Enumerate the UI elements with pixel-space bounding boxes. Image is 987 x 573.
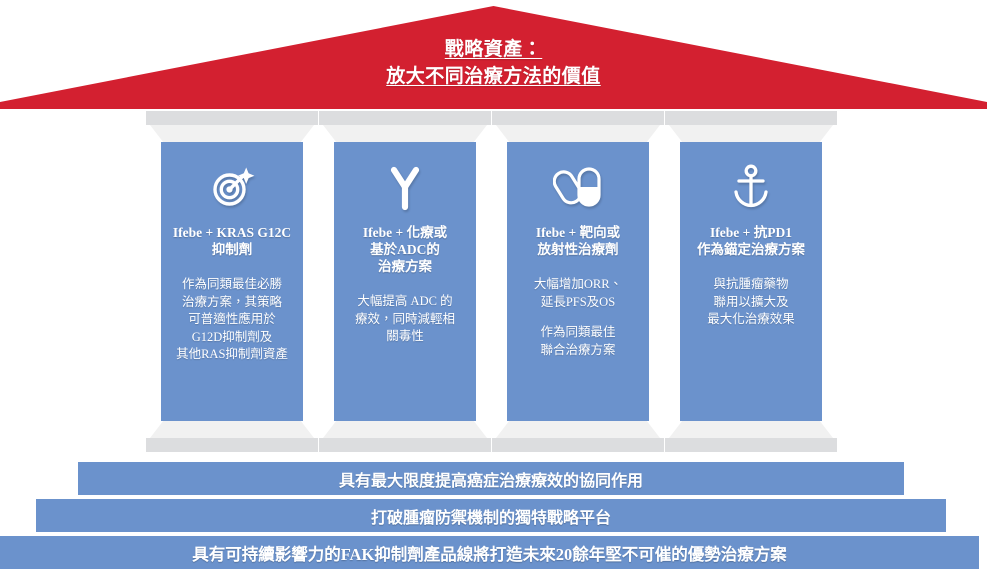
capsule-pills-icon	[511, 156, 645, 218]
pillar-heading-line: Ifebe + KRAS G12C	[173, 225, 291, 240]
pillar-heading-line: 基於ADC的	[370, 242, 440, 257]
pillar-body-paragraph: 作為同類最佳必勝治療方案，其策略可普適性應用於G12D抑制劑及其他RAS抑制劑資…	[165, 276, 299, 364]
pillar-heading: Ifebe + KRAS G12C 抑制劑	[165, 224, 299, 258]
pillar-heading-line: 放射性治療劑	[538, 242, 619, 257]
pillar-shaft: Ifebe + 抗PD1 作為錨定治療方案 與抗腫瘤藥物聯用以擴大及最大化治療效…	[680, 142, 822, 421]
pillar-base-mid	[496, 421, 660, 438]
pillar-body-paragraph: 與抗腫瘤藥物聯用以擴大及最大化治療效果	[684, 276, 818, 329]
pillar-heading: Ifebe + 靶向或 放射性治療劑	[511, 224, 645, 258]
pillar-capital-mid	[150, 125, 314, 142]
pillar-capital-top	[146, 111, 318, 125]
pillar-heading-line: 治療方案	[378, 259, 432, 274]
pillar-base-mid	[669, 421, 833, 438]
foundation-bar-platform[interactable]: 打破腫瘤防禦機制的獨特戰略平台	[36, 499, 946, 532]
foundation-bar-pipeline[interactable]: 具有可持續影響力的FAK抑制劑產品線將打造未來20餘年堅不可催的優勢治療方案	[0, 536, 979, 569]
pillar-base-mid	[150, 421, 314, 438]
pillar-body: 作為同類最佳必勝治療方案，其策略可普適性應用於G12D抑制劑及其他RAS抑制劑資…	[165, 276, 299, 364]
anchor-icon	[684, 156, 818, 218]
pillar-shaft: Ifebe + 靶向或 放射性治療劑 大幅增加ORR、延長PFS及OS 作為同類…	[507, 142, 649, 421]
target-icon	[165, 156, 299, 218]
pillar-base-bottom	[319, 438, 491, 452]
pillar-body-paragraph: 作為同類最佳聯合治療方案	[511, 324, 645, 359]
pillar-capital-top	[665, 111, 837, 125]
pillar-shaft: Ifebe + 化療或 基於ADC的 治療方案 大幅提高 ADC 的療效，同時減…	[334, 142, 476, 421]
pillar-heading-line: Ifebe + 抗PD1	[710, 225, 792, 240]
pillar-shaft: Ifebe + KRAS G12C 抑制劑 作為同類最佳必勝治療方案，其策略可普…	[161, 142, 303, 421]
foundation-bar-label: 具有最大限度提高癌症治療療效的協同作用	[339, 467, 643, 491]
pillar-body: 大幅增加ORR、延長PFS及OS 作為同類最佳聯合治療方案	[511, 276, 645, 359]
temple-diagram: 戰略資產： 放大不同治療方法的價值 Ifebe + KRAS G12C	[0, 0, 987, 573]
pillar-body-paragraph: 大幅增加ORR、延長PFS及OS	[511, 276, 645, 311]
pillar-base-mid	[323, 421, 487, 438]
pillar-heading: Ifebe + 抗PD1 作為錨定治療方案	[684, 224, 818, 258]
pillar-base-bottom	[146, 438, 318, 452]
pillar-chemo-adc[interactable]: Ifebe + 化療或 基於ADC的 治療方案 大幅提高 ADC 的療效，同時減…	[317, 111, 493, 454]
pillar-heading-line: 抑制劑	[212, 242, 253, 257]
pillar-body-paragraph: 大幅提高 ADC 的療效，同時減輕相關毒性	[338, 293, 472, 346]
foundation-bar-label: 打破腫瘤防禦機制的獨特戰略平台	[371, 504, 611, 528]
pillar-capital-mid	[496, 125, 660, 142]
pillar-heading-line: Ifebe + 化療或	[363, 225, 447, 240]
pillar-base-bottom	[492, 438, 664, 452]
pillar-anti-pd1[interactable]: Ifebe + 抗PD1 作為錨定治療方案 與抗腫瘤藥物聯用以擴大及最大化治療效…	[663, 111, 839, 454]
pillar-body: 大幅提高 ADC 的療效，同時減輕相關毒性	[338, 293, 472, 346]
pediment-roof	[0, 6, 987, 109]
pillar-capital-top	[492, 111, 664, 125]
pillar-body: 與抗腫瘤藥物聯用以擴大及最大化治療效果	[684, 276, 818, 329]
pillar-heading-line: Ifebe + 靶向或	[536, 225, 620, 240]
pillar-capital-top	[319, 111, 491, 125]
foundation-bar-synergy[interactable]: 具有最大限度提高癌症治療療效的協同作用	[78, 462, 904, 495]
pillar-kras-g12c[interactable]: Ifebe + KRAS G12C 抑制劑 作為同類最佳必勝治療方案，其策略可普…	[144, 111, 320, 454]
pillar-capital-mid	[669, 125, 833, 142]
antibody-icon	[338, 156, 472, 218]
pillar-heading-line: 作為錨定治療方案	[697, 242, 805, 257]
pillar-targeted-radio[interactable]: Ifebe + 靶向或 放射性治療劑 大幅增加ORR、延長PFS及OS 作為同類…	[490, 111, 666, 454]
pillar-base-bottom	[665, 438, 837, 452]
foundation-bar-label: 具有可持續影響力的FAK抑制劑產品線將打造未來20餘年堅不可催的優勢治療方案	[192, 541, 787, 565]
pillar-capital-mid	[323, 125, 487, 142]
pillar-heading: Ifebe + 化療或 基於ADC的 治療方案	[338, 224, 472, 275]
